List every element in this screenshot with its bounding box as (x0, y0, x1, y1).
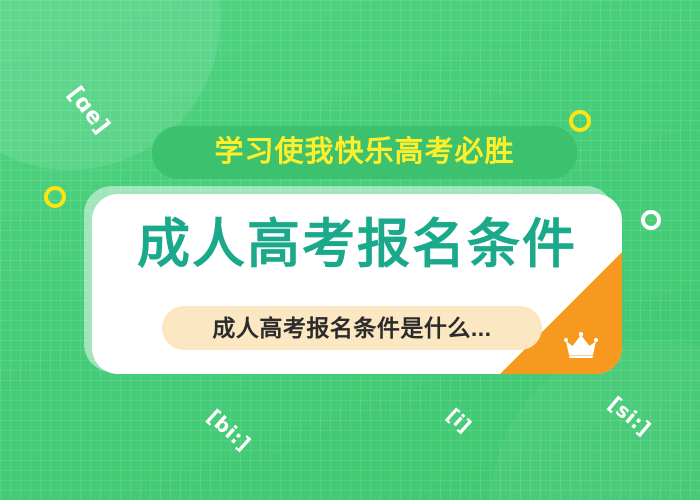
slogan-banner: 学习使我快乐高考必胜 (152, 126, 577, 179)
crown-icon (564, 332, 598, 358)
decorative-ring-white-right (641, 210, 661, 230)
subtitle-pill: 成人高考报名条件是什么... (162, 306, 542, 350)
slogan-banner-text: 学习使我快乐高考必胜 (214, 138, 514, 167)
decorative-ring-yellow-top-right (569, 110, 591, 132)
subtitle-text: 成人高考报名条件是什么... (212, 317, 491, 340)
decorative-ring-yellow-left (44, 186, 66, 208)
poster-canvas: [ɑe] [bi:] [i] [si:] 学习使我快乐高考必胜 成人高考报名条件… (0, 0, 700, 500)
main-card: 成人高考报名条件 成人高考报名条件是什么... (92, 194, 622, 374)
page-title: 成人高考报名条件 (92, 218, 622, 271)
